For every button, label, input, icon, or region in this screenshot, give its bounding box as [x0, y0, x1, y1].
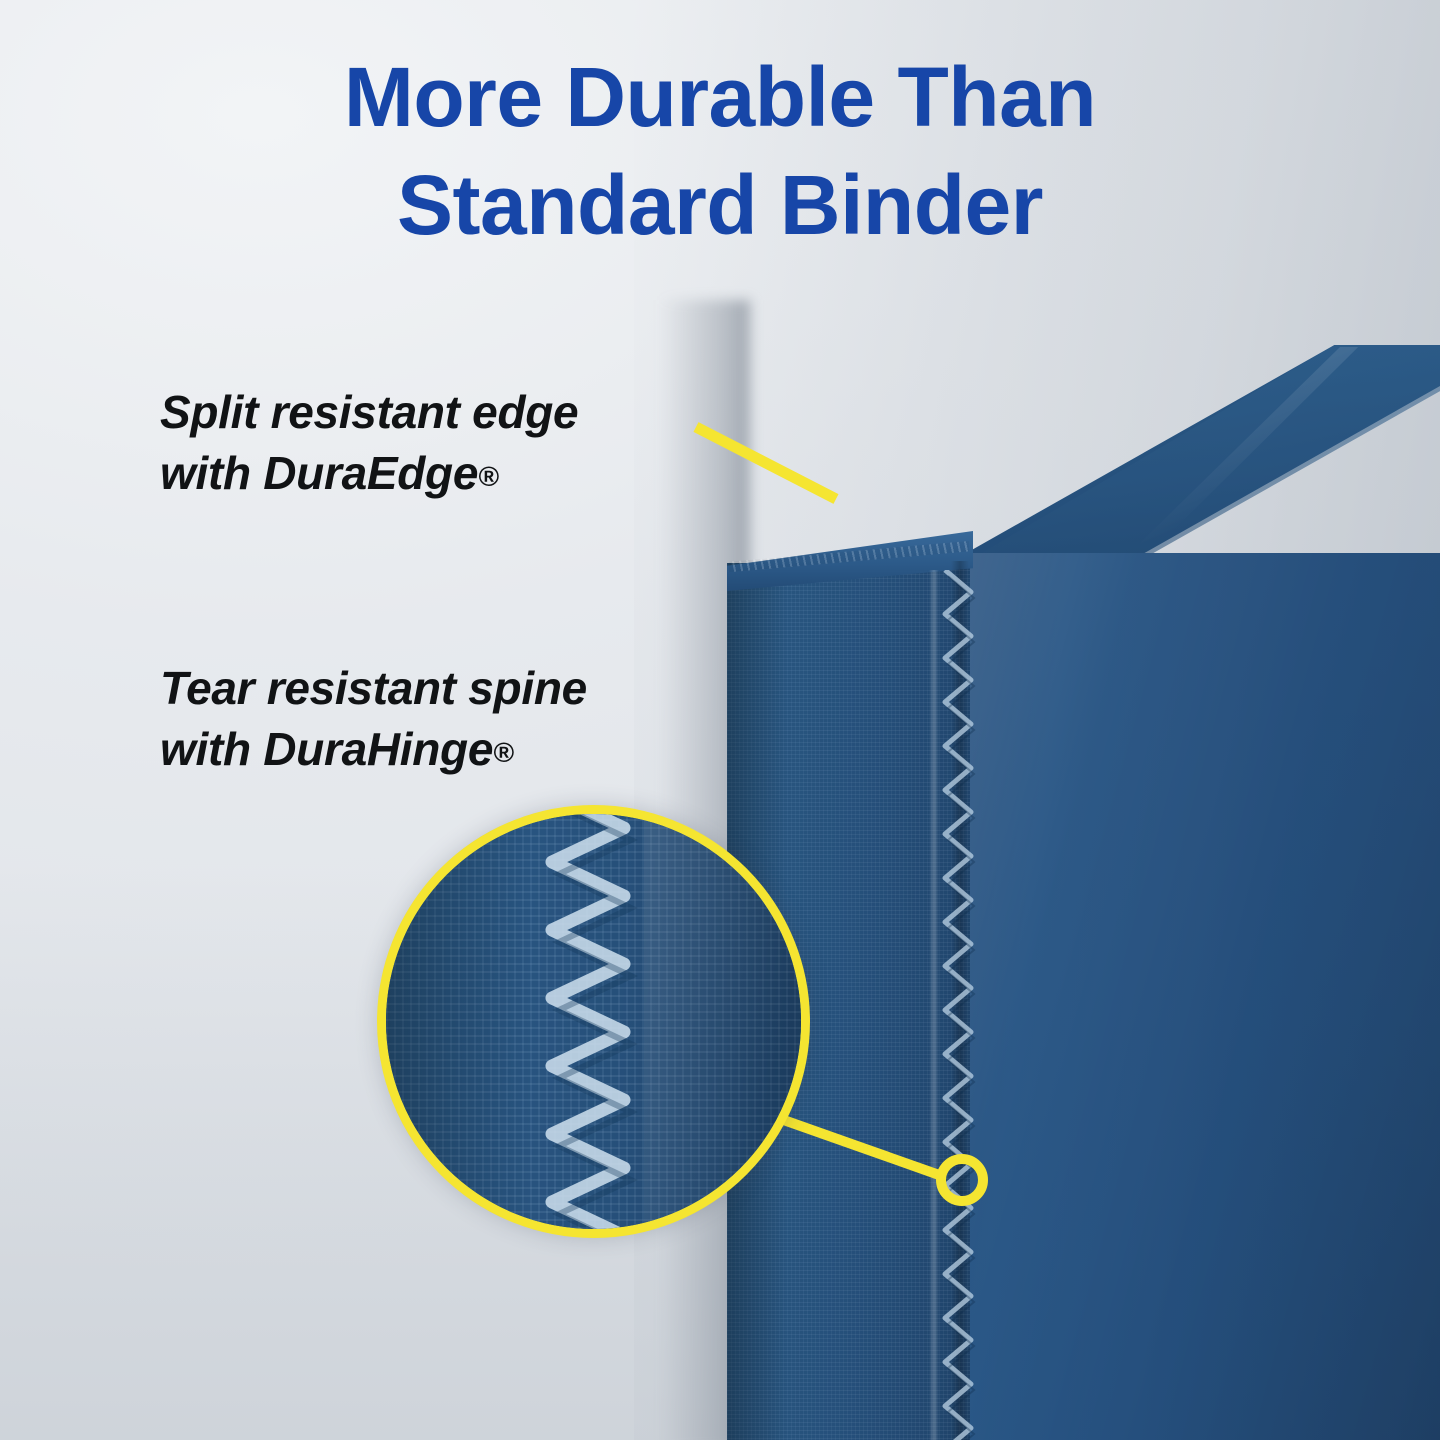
callout-spine-brand: with DuraHinge — [160, 723, 493, 775]
registered-trademark-icon: ® — [493, 737, 513, 768]
callout-edge-leader-line — [690, 415, 860, 515]
magnifier-zigzag-stitching — [528, 805, 658, 1238]
callout-spine-line-2: with DuraHinge® — [160, 719, 587, 780]
headline-line-2: Standard Binder — [0, 152, 1440, 260]
magnifier-gloss-highlight — [644, 814, 810, 1229]
magnifier-left-shading — [386, 814, 531, 1229]
callout-tear-resistant-spine: Tear resistant spine with DuraHinge® — [160, 658, 587, 779]
durahinge-zigzag-stitching — [937, 570, 983, 1440]
callout-edge-line-2: with DuraEdge® — [160, 443, 578, 504]
binder-top-face-secondary — [960, 345, 1440, 580]
binder-front-cover-sheen — [960, 553, 1440, 1440]
callout-edge-line-1: Split resistant edge — [160, 382, 578, 443]
callout-spine-line-1: Tear resistant spine — [160, 658, 587, 719]
registered-trademark-icon: ® — [478, 461, 498, 492]
headline-line-1: More Durable Than — [0, 44, 1440, 152]
headline: More Durable Than Standard Binder — [0, 44, 1440, 259]
callout-edge-brand: with DuraEdge — [160, 447, 478, 499]
callout-split-resistant-edge: Split resistant edge with DuraEdge® — [160, 382, 578, 503]
product-image-canvas: More Durable Than Standard Binder Split … — [0, 0, 1440, 1440]
magnifier-zoom-circle — [377, 805, 810, 1238]
magnifier-pointer-leader — [770, 1090, 1020, 1250]
